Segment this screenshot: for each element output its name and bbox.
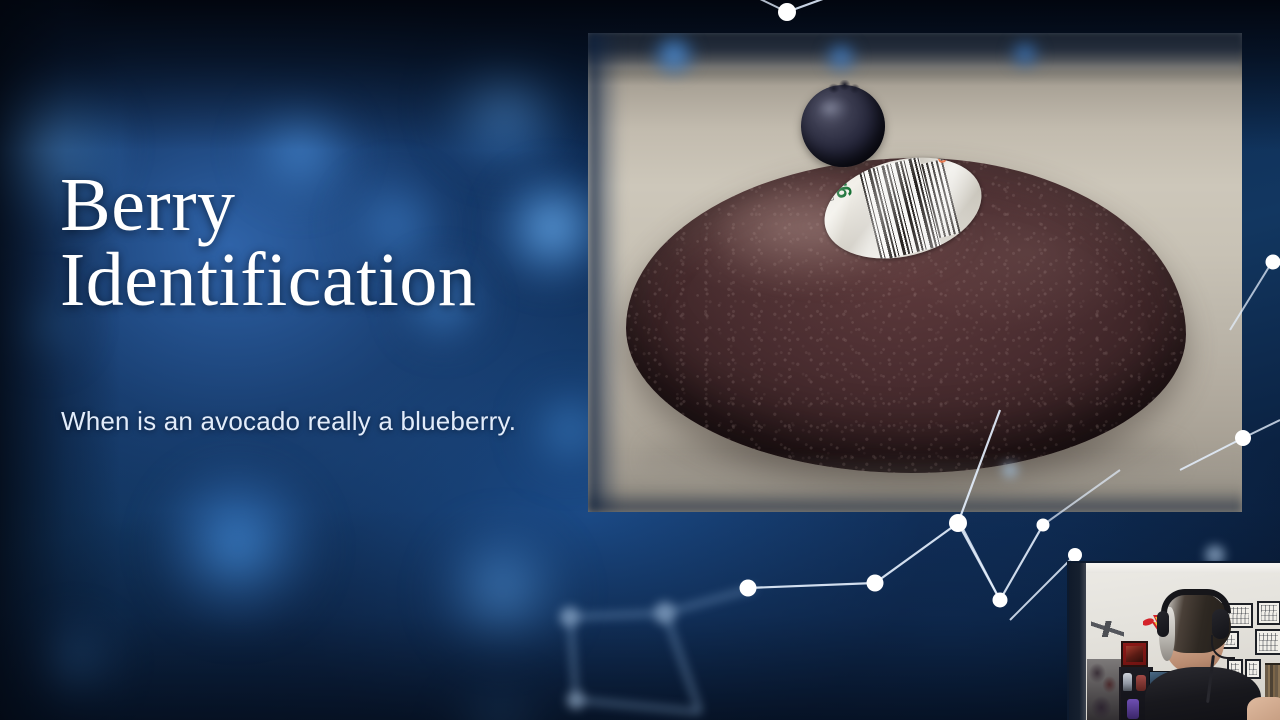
wall-model-plane (1091, 621, 1124, 637)
photo-left-edge-blend (588, 33, 622, 512)
headset-earcup (1157, 611, 1169, 637)
framed-artwork (1257, 601, 1280, 625)
blueberry-calyx (827, 80, 861, 94)
counter-back-wall (588, 33, 1242, 71)
presenter-torso (1145, 667, 1261, 720)
blueberry (801, 85, 885, 167)
slide-title: Berry Identification (60, 168, 580, 318)
webcam-left-wall (1069, 563, 1086, 720)
presenter-arm (1247, 697, 1280, 720)
slide-title-line-2: Identification (60, 243, 580, 318)
blueberry-highlight (819, 99, 849, 121)
slide-subtitle: When is an avocado really a blueberry. (61, 406, 516, 437)
slide-title-line-1: Berry (60, 168, 580, 243)
shelf-figurine (1127, 699, 1139, 719)
slide-stage: 94046 LOT 2 HMP 237 ORGANIC Avocado Mexi… (0, 0, 1280, 720)
webcam-ceiling (1069, 563, 1280, 573)
framed-red-poster (1121, 641, 1148, 667)
photo-bottom-edge-blend (588, 490, 1242, 512)
shelf-figurine (1123, 673, 1132, 691)
avocado-photo-panel: 94046 LOT 2 HMP 237 ORGANIC Avocado Mexi… (588, 33, 1242, 512)
framed-artwork (1255, 629, 1280, 655)
presenter-webcam[interactable] (1067, 561, 1280, 720)
desk-clutter (1087, 659, 1121, 720)
shelf-figurine (1136, 675, 1146, 691)
